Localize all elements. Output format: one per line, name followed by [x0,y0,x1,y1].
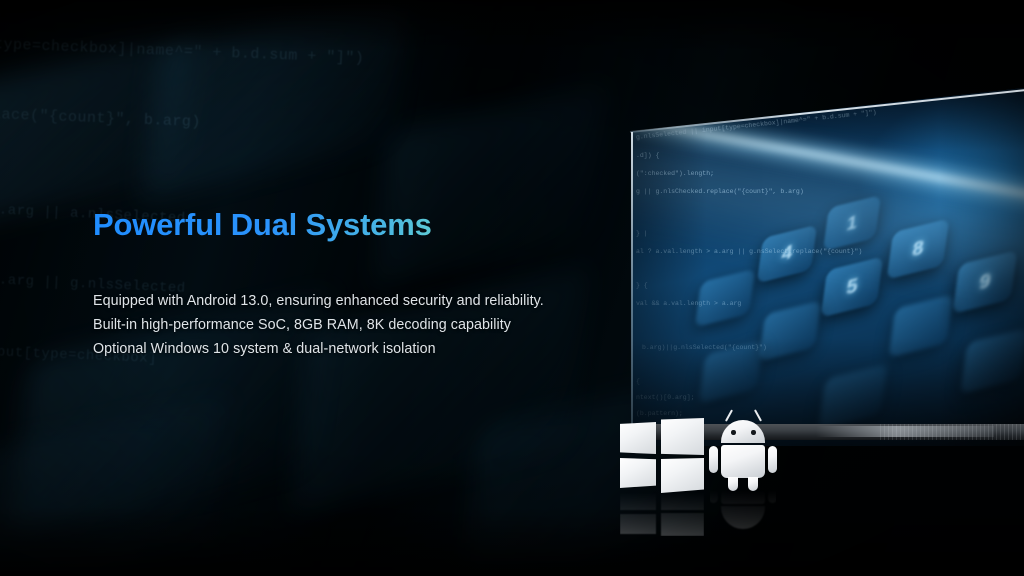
panel-left-edge-highlight [631,132,633,448]
windows-pane-bottom-right [661,458,704,493]
windows-pane-top-left [620,422,656,454]
android-antenna-left [725,409,733,421]
glass-display-panel: 4 5 8 9 1 g.nlsSelected || input[t [612,86,1024,446]
text-content-block: Powerful Dual Systems Equipped with Andr… [93,206,613,361]
windows-logo-icon [620,418,704,490]
bar-texture [880,424,1024,440]
panel-shading [612,86,1024,446]
windows-pane-bottom-left [620,458,656,488]
android-eye-left [731,430,736,435]
android-body [721,445,765,478]
slide-canvas: type=checkbox]|name^=" + b.d.sum + "]") … [0,0,1024,576]
android-arm-right [768,446,777,473]
android-arm-left [709,446,718,473]
feature-line-3: Optional Windows 10 system & dual-networ… [93,337,613,361]
android-logo-reflection [710,489,776,543]
android-head [721,420,765,443]
android-eye-right [751,430,756,435]
windows-logo-reflection [620,490,704,536]
feature-line-1: Equipped with Android 13.0, ensuring enh… [93,289,613,313]
page-title: Powerful Dual Systems [93,206,613,243]
panel-screen-content: 4 5 8 9 1 g.nlsSelected || input[t [612,86,1024,446]
android-antenna-right [754,409,762,421]
feature-line-2: Built-in high-performance SoC, 8GB RAM, … [93,313,613,337]
android-logo-icon [710,406,776,488]
windows-pane-top-right [661,418,704,455]
